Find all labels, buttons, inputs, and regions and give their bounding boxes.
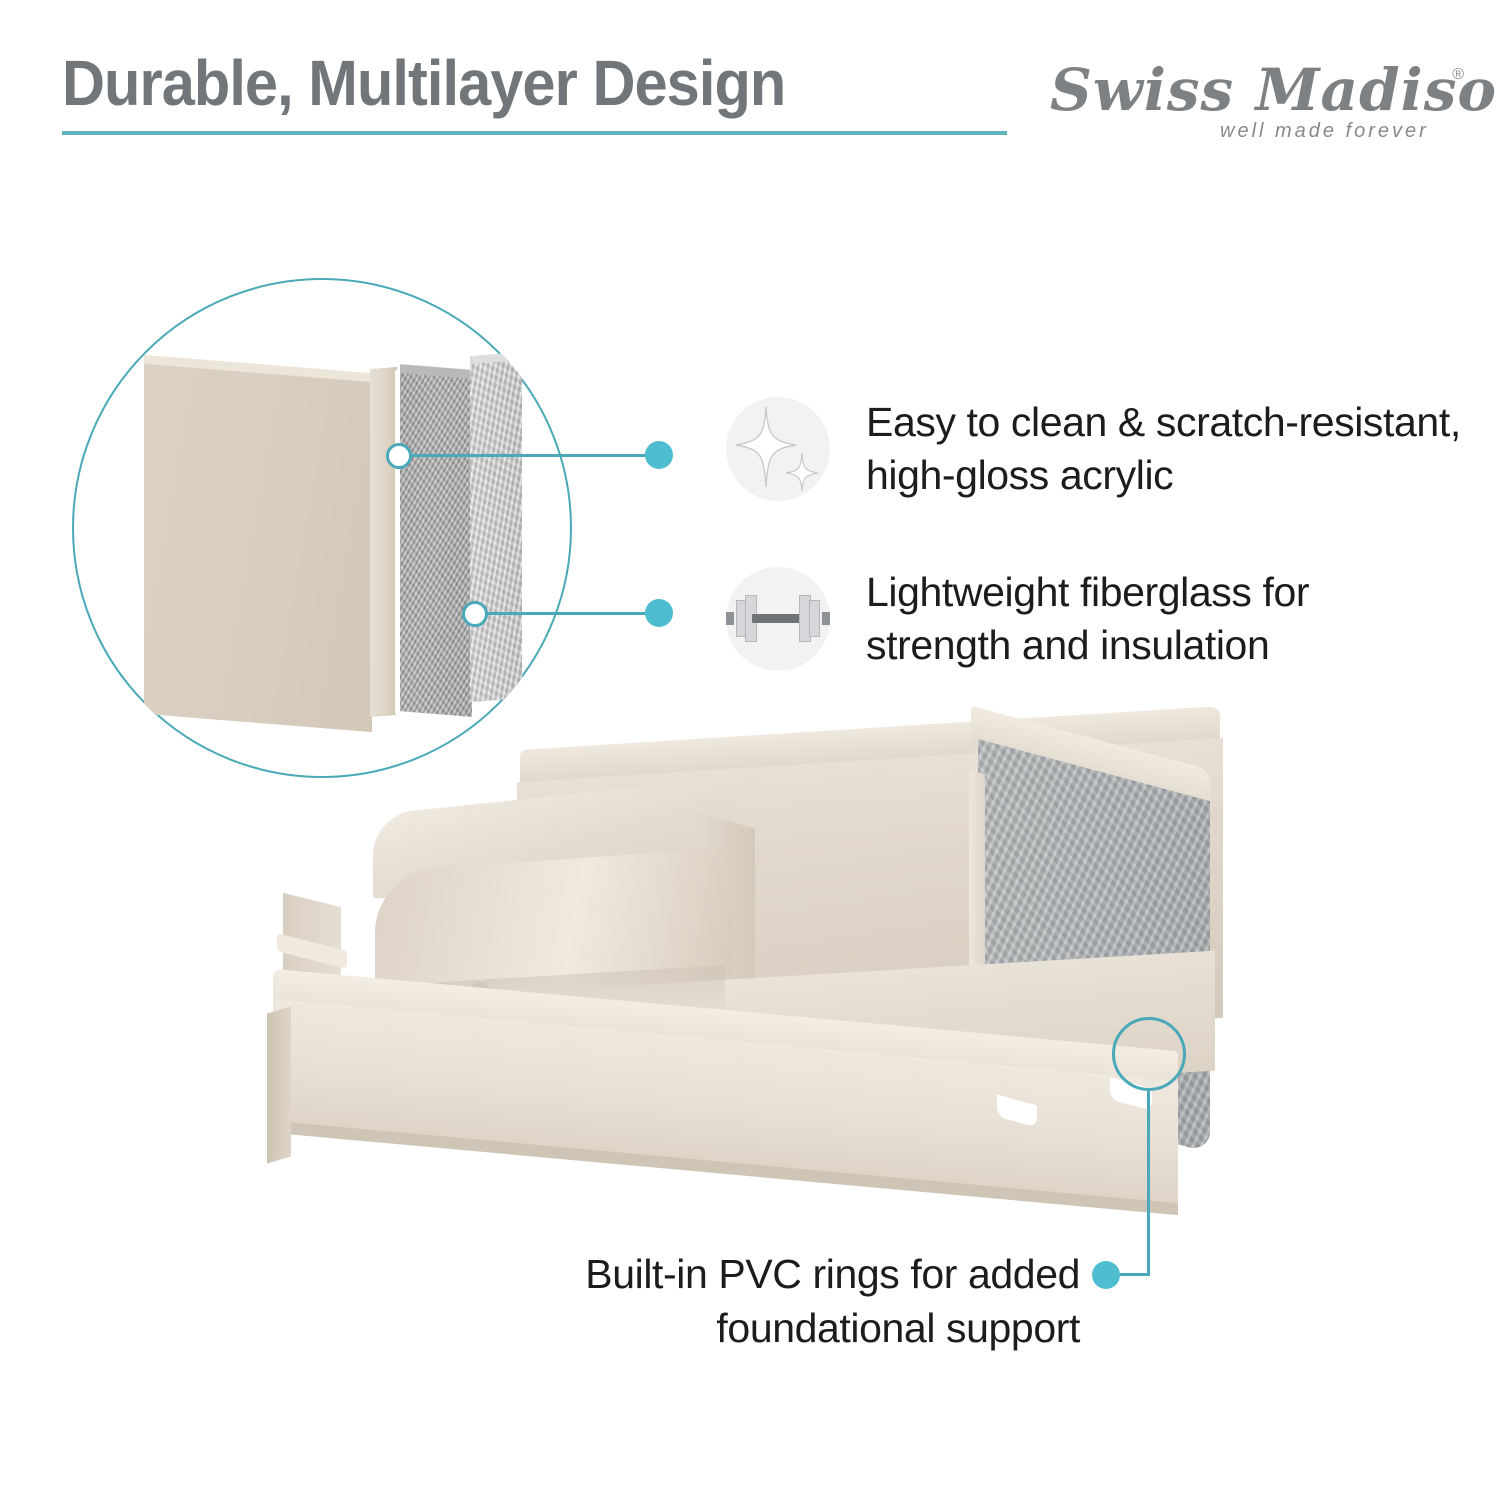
leader-ring-pvc [1112,1017,1186,1091]
fiberglass-layer-edge [470,360,522,702]
callout-fiberglass-label: Lightweight fiberglass for strength and … [866,566,1446,673]
leader-ring-fiberglass [462,601,488,627]
dumbbell-cap-right [822,612,830,625]
callout-pvc-rings-label: Built-in PVC rings for added foundationa… [430,1247,1080,1355]
page-title: Durable, Multilayer Design [62,46,785,120]
brand-tagline: well made forever [1220,120,1470,143]
leader-line-fiberglass [486,612,653,615]
leader-line-pvc-vertical [1147,1088,1150,1276]
callout-acrylic: Easy to clean & scratch-resistant, high-… [726,396,1466,503]
leader-ring-acrylic [386,443,412,469]
acrylic-layer-face [144,364,372,732]
fiberglass-layer-face [400,373,472,717]
callout-acrylic-label: Easy to clean & scratch-resistant, high-… [866,396,1466,503]
header: Durable, Multilayer Design Swiss Madison… [0,0,1500,170]
product-image-shower-base [255,710,1255,1250]
dumbbell-icon [726,567,830,671]
dumbbell-cap-left [726,612,734,625]
acrylic-layer-edge [370,367,397,717]
leader-dot-acrylic [645,441,673,469]
magnifier-cross-section [72,278,572,778]
leader-dot-fiberglass [645,599,673,627]
registered-trademark-icon: ® [1452,66,1464,84]
dumbbell-plate [809,600,820,637]
sparkle-icon [726,397,830,501]
title-underline [62,131,1007,135]
brand-logo: Swiss Madison ® well made forever [1050,48,1470,158]
product-apron-left-edge [267,1007,291,1164]
dumbbell-bar [752,614,804,623]
callout-fiberglass: Lightweight fiberglass for strength and … [726,566,1446,673]
brand-name: Swiss Madison [1050,56,1450,124]
leader-dot-pvc [1092,1261,1120,1289]
leader-line-acrylic [410,454,653,457]
